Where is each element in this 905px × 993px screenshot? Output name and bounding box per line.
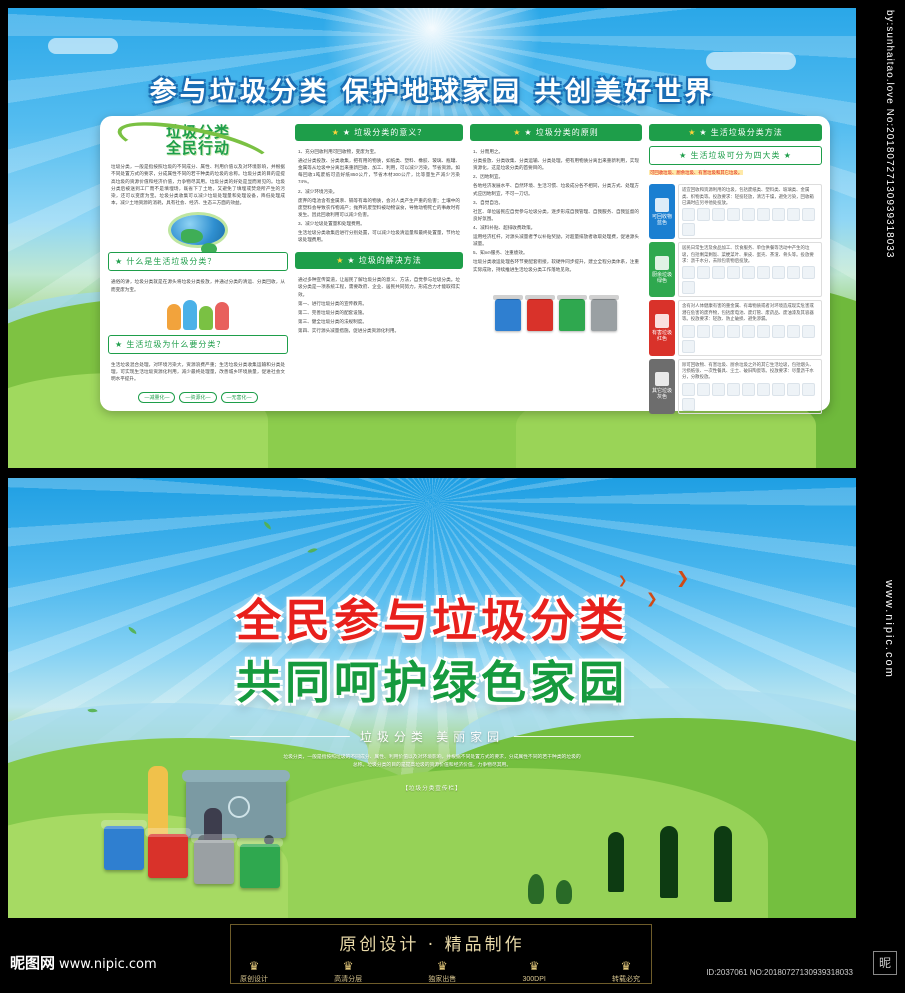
kid-figure	[215, 302, 229, 330]
logo-artwork: 垃圾分类 全民行动	[108, 124, 288, 156]
bottom-poster: ❯ ❯ ❯ 全民参与垃圾分类 共同呵护绿色家园 垃圾分类 美丽家园 垃圾分类，一…	[8, 478, 856, 918]
tree-silhouette	[556, 880, 572, 904]
runner-silhouette	[608, 832, 624, 892]
poster-subtitle: 垃圾分类 美丽家园	[360, 728, 504, 745]
bird-icon: ❯	[676, 568, 689, 588]
runner-silhouette	[714, 826, 732, 902]
bins-illustration	[470, 285, 642, 331]
tree-silhouette	[528, 874, 544, 904]
crown-icon: ♛	[428, 958, 456, 975]
poster-title-line2: 共同呵护绿色家园	[236, 646, 628, 711]
star-icon: ★	[688, 128, 696, 137]
section-head-principles: ★★ 垃圾分类的原则	[470, 124, 642, 141]
tag-harmless: —无害化—	[221, 392, 258, 403]
solution-list: 通过多种宣传渠道，让居民了解垃圾分类的意义、方法，自觉参与垃圾分类。垃圾分类是一…	[295, 274, 463, 338]
cloud	[706, 52, 796, 70]
section-head-meaning: ★★ 垃圾分类的意义？	[295, 124, 463, 141]
section-head-what: ★ 什么是生活垃圾分类？	[108, 252, 288, 271]
method-table: 可回收物 蓝色 适宜回收和资源利用的垃圾，包括废纸类、塑料类、玻璃类、金属类、织…	[649, 184, 822, 414]
nipic-logo-icon: 昵	[873, 951, 897, 975]
column-method: ★★ 生活垃圾分类方法 ★ 生活垃圾可分为四大类 ★ 可回收垃圾、厨余垃圾、有害…	[649, 124, 822, 403]
poster-body-text: 垃圾分类，一般是指按照垃圾的不同成分、属性、利用价值以及对环境影响，并根据不同处…	[282, 754, 582, 770]
bin-other	[194, 840, 234, 884]
icon-strip	[682, 208, 818, 236]
row-desc: 除可回收物、有害垃圾、厨余垃圾之外的其它生活垃圾，包括烟头、污损纸张、一次性餐具…	[678, 359, 822, 414]
column-principles: ★★ 垃圾分类的原则 1、分而用之。 分类投放、分类收集、分类运输、分类处理，把…	[470, 124, 642, 403]
image-id-line: ID:2037061 NO:20180727130939318033	[706, 968, 853, 977]
poster-subtitle-row: 垃圾分类 美丽家园	[230, 728, 634, 745]
site-watermark: www.nipic.com	[883, 580, 895, 679]
table-row: 可回收物 蓝色 适宜回收和资源利用的垃圾，包括废纸类、塑料类、玻璃类、金属类、织…	[649, 184, 822, 239]
green-hill	[248, 768, 768, 918]
bin-other	[591, 299, 617, 331]
crown-icon: ♛	[522, 958, 545, 975]
poster-caption: 【垃圾分类宣传栏】	[402, 784, 461, 792]
footer-badge: ♛高清分层	[334, 958, 362, 985]
row-label-kitchen: 厨余垃圾 绿色	[649, 242, 675, 297]
recycle-icon	[228, 796, 250, 818]
content-panel: 垃圾分类 全民行动 垃圾分类，一般是指按照垃圾的不同成分、属性、利用价值以及对环…	[100, 116, 830, 411]
tag-resource: —资源化—	[179, 392, 216, 403]
food-waste-icon	[655, 256, 669, 270]
bin-kitchen	[240, 844, 280, 888]
icon-strip	[682, 325, 818, 353]
bin-hazardous	[148, 834, 188, 878]
section-head-why: ★ 生活垃圾为什么要分类？	[108, 335, 288, 354]
footer-badge: ♛转载必究	[612, 958, 640, 985]
runner-silhouette	[660, 826, 678, 898]
crown-icon: ♛	[612, 958, 640, 975]
meaning-list: 1、充分回收利用可回收物，变废为宝。 通过分类投放、分类收集，把有用的物质，如纸…	[295, 146, 463, 247]
footer-badges: ♛原创设计 ♛高清分层 ♛独家出售 ♛300DPI ♛转载必究	[240, 958, 640, 985]
kid-figure	[199, 306, 213, 330]
row-desc: 适宜回收和资源利用的垃圾，包括废纸类、塑料类、玻璃类、金属类、织物类等。投放要求…	[678, 184, 822, 239]
footer-badge: ♛独家出售	[428, 958, 456, 985]
table-row: 有害垃圾 红色 含有对人体健康有害的重金属、有毒物质或者对环境造成现实危害或潜在…	[649, 300, 822, 355]
bin-recyclable	[495, 299, 521, 331]
kid-figure	[167, 304, 181, 330]
icon-strip	[682, 266, 818, 294]
bin-recyclable	[104, 826, 144, 870]
other-waste-icon	[655, 372, 669, 386]
row-label-hazardous: 有害垃圾 红色	[649, 300, 675, 355]
table-row: 其它垃圾 灰色 除可回收物、有害垃圾、厨余垃圾之外的其它生活垃圾，包括烟头、污损…	[649, 359, 822, 414]
footer-badge: ♛原创设计	[240, 958, 268, 985]
large-dumpster	[186, 778, 286, 838]
crown-icon: ♛	[334, 958, 362, 975]
right-watermark-bar: by:sunhaitao.love No:2018072713093931803…	[865, 0, 905, 993]
divider-right	[514, 736, 634, 737]
star-icon: ★	[336, 256, 344, 265]
benefit-tags: —减量化— —资源化— —无害化—	[108, 392, 288, 403]
what-text: 通俗的讲，垃圾分类就是在源头将垃圾分类投放，并通过分类的清运、分类回收，从而变废…	[108, 276, 288, 294]
star-icon: ★	[332, 128, 340, 137]
poster-page: 参与垃圾分类 保护地球家园 共创美好世界 垃圾分类 全民行动 垃圾分类，一般是指…	[0, 0, 905, 993]
cloud	[48, 38, 118, 54]
row-label-other: 其它垃圾 灰色	[649, 359, 675, 414]
column-meaning: ★★ 垃圾分类的意义？ 1、充分回收利用可回收物，变废为宝。 通过分类投放、分类…	[295, 124, 463, 403]
site-brand: 昵图网www.nipic.com	[10, 952, 157, 973]
section-head-method: ★★ 生活垃圾分类方法	[649, 124, 822, 141]
row-label-recyclable: 可回收物 蓝色	[649, 184, 675, 239]
icon-strip	[682, 383, 818, 411]
brand-name: 昵图网	[10, 954, 55, 972]
star-icon: ★	[513, 128, 521, 137]
section-head-solution: ★★ 垃圾的解决方法	[295, 252, 463, 269]
bird-icon: ❯	[646, 590, 658, 607]
table-row: 厨余垃圾 绿色 居民日常生活及食品加工、饮食服务、单位供餐等活动中产生的垃圾，包…	[649, 242, 822, 297]
tag-reduce: —减量化—	[138, 392, 175, 403]
footer-title: 原创设计 · 精品制作	[339, 930, 524, 955]
poster-title-line1: 全民参与垃圾分类	[236, 584, 628, 649]
board-banner-title: 参与垃圾分类 保护地球家园 共创美好世界	[150, 70, 715, 109]
bin-kitchen	[559, 299, 585, 331]
recycle-icon	[655, 198, 669, 212]
method-subhead: ★ 生活垃圾可分为四大类 ★	[649, 146, 822, 165]
row-desc: 含有对人体健康有害的重金属、有毒物质或者对环境造成现实危害或潜在危害的废弃物，包…	[678, 300, 822, 355]
divider-left	[230, 736, 350, 737]
children-illustration	[108, 300, 288, 330]
principles-list: 1、分而用之。 分类投放、分类收集、分类运输、分类处理，把有用物质分离出来重新利…	[470, 146, 642, 277]
brand-url: www.nipic.com	[59, 957, 157, 972]
kid-figure	[183, 300, 197, 330]
crown-icon: ♛	[240, 958, 268, 975]
why-text: 生活垃圾混合处理，对环境污染大，资源浪费严重；生活垃圾分类收集运输和分类处理，可…	[108, 359, 288, 384]
row-desc: 居民日常生活及食品加工、饮食服务、单位供餐等活动中产生的垃圾，包括剩菜剩饭、菜梗…	[678, 242, 822, 297]
top-board: 参与垃圾分类 保护地球家园 共创美好世界 垃圾分类 全民行动 垃圾分类，一般是指…	[8, 8, 856, 468]
method-note: 可回收垃圾、厨余垃圾、有害垃圾和其它垃圾。	[649, 170, 822, 176]
earth-icon	[171, 215, 225, 245]
author-watermark: by:sunhaitao.love No:2018072713093931803…	[884, 10, 895, 258]
bin-hazardous	[527, 299, 553, 331]
footer-badge: ♛300DPI	[522, 958, 545, 985]
column-intro: 垃圾分类 全民行动 垃圾分类，一般是指按照垃圾的不同成分、属性、利用价值以及对环…	[108, 124, 288, 403]
hazard-icon	[655, 314, 669, 328]
